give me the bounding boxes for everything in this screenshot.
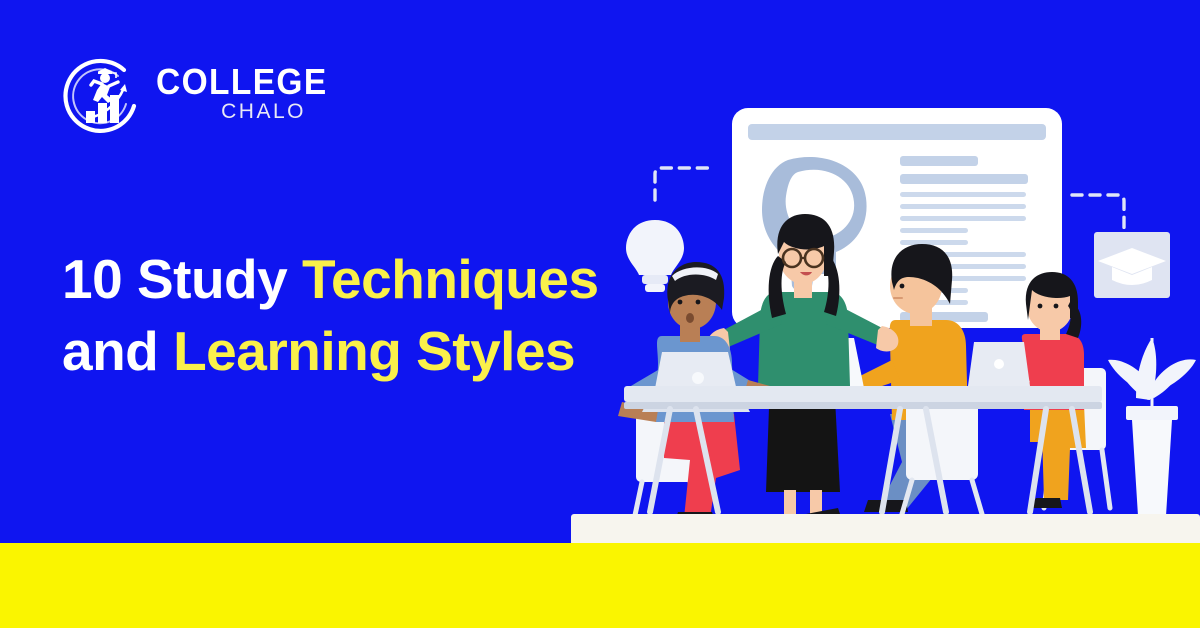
accent-band (0, 543, 1200, 628)
logo-secondary-text: CHALO (156, 100, 308, 124)
college-chalo-emblem-icon (58, 56, 148, 142)
headline-line1-accent: Techniques (302, 248, 599, 310)
headline-line1-plain: 10 Study (62, 248, 302, 310)
dashed-connector-right (1072, 195, 1124, 232)
classroom-lecture-illustration (600, 80, 1200, 525)
headline-line2-plain: and (62, 320, 173, 382)
logo-primary-text: COLLEGE (156, 64, 297, 100)
graduation-cap-card-icon (1094, 232, 1170, 298)
college-chalo-logo[interactable]: COLLEGE CHALO (58, 56, 308, 142)
study-techniques-banner: COLLEGE CHALO 10 Study Techniques and Le… (0, 0, 1200, 628)
logo-wordmark: COLLEGE CHALO (156, 64, 308, 124)
dashed-connector-left (655, 168, 712, 200)
headline-line2-accent: Learning Styles (173, 320, 575, 382)
headline-line-2: and Learning Styles (62, 315, 662, 387)
page-title: 10 Study Techniques and Learning Styles (62, 243, 662, 387)
floor-strip (571, 514, 1200, 544)
headline-line-1: 10 Study Techniques (62, 243, 662, 315)
potted-plant-icon (1108, 338, 1196, 516)
